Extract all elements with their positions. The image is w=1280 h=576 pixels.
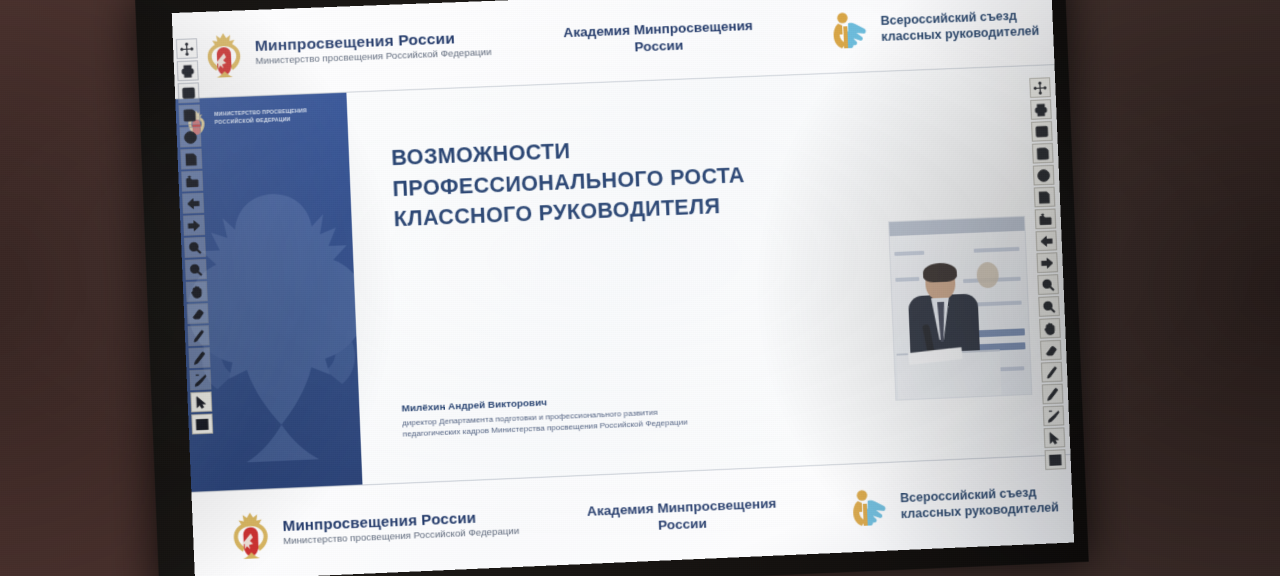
toolbar-button-close-x[interactable] <box>1033 165 1055 186</box>
toolbar-button-arrow-right[interactable] <box>1036 252 1058 273</box>
save-floppy-icon <box>183 108 197 122</box>
save-floppy-icon <box>1036 147 1049 160</box>
pen-thick-icon <box>193 351 207 365</box>
toolbar-button-list-menu[interactable] <box>191 414 213 435</box>
toolbar-button-pen-thick[interactable] <box>189 347 211 368</box>
raised-hands-logo-icon <box>844 484 892 532</box>
toolbar-button-hand-pan[interactable] <box>186 281 208 302</box>
toolbar-button-search-page[interactable] <box>1034 187 1056 208</box>
header-congress-brand: Всероссийский съезд классных руководител… <box>824 0 1040 54</box>
zoom-out-icon <box>189 263 203 277</box>
hand-pan-icon <box>1043 322 1056 335</box>
toolbar-button-pen[interactable] <box>188 325 210 346</box>
toolbar-button-move-crosshair[interactable] <box>1029 77 1051 98</box>
toolbar-button-pen-thick[interactable] <box>1042 384 1064 405</box>
congress-title: Всероссийский съезд классных руководител… <box>880 7 1039 46</box>
save-as-icon <box>1035 125 1048 138</box>
toolbar-button-eraser[interactable] <box>1040 340 1062 361</box>
toolbar-button-highlighter[interactable] <box>1043 405 1065 426</box>
toolbar-button-pen[interactable] <box>1041 362 1063 383</box>
toolbar-button-close-x[interactable] <box>179 127 201 148</box>
slide-title: ВОЗМОЖНОСТИ ПРОФЕССИОНАЛЬНОГО РОСТА КЛАС… <box>391 117 1061 235</box>
raised-hands-logo-icon <box>824 6 872 54</box>
list-menu-icon <box>195 417 209 431</box>
arrow-left-icon <box>1040 234 1053 247</box>
photo-hair <box>923 262 958 282</box>
zoom-in-icon <box>1041 278 1054 291</box>
highlighter-icon <box>1047 409 1060 422</box>
open-folder-icon <box>185 174 199 188</box>
move-crosshair-icon <box>180 42 194 56</box>
toolbar-button-open-folder[interactable] <box>181 171 203 192</box>
toolbar-button-arrow-left[interactable] <box>182 193 204 214</box>
eraser-icon <box>191 307 205 321</box>
search-page-icon <box>1038 190 1051 203</box>
russia-coat-of-arms-icon <box>226 507 274 561</box>
toolbar-button-search-page[interactable] <box>180 149 202 170</box>
toolbar-button-cursor-arrow[interactable] <box>190 391 212 412</box>
zoom-in-icon <box>188 241 202 255</box>
toolbar-button-save-as[interactable] <box>1031 121 1053 142</box>
cursor-arrow-icon <box>1048 431 1061 444</box>
footer-ministry-brand: Минпросвещения России Министерство просв… <box>226 497 520 562</box>
arrow-right-icon <box>1041 256 1054 269</box>
close-x-icon <box>1037 168 1050 181</box>
header-ministry-brand: Минпросвещения России Министерство просв… <box>201 19 493 80</box>
toolbar-button-save-floppy[interactable] <box>179 104 201 125</box>
toolbar-button-print[interactable] <box>177 60 199 81</box>
pen-thick-icon <box>1046 387 1059 400</box>
save-as-icon <box>182 86 196 100</box>
toolbar-button-cursor-arrow[interactable] <box>1044 427 1066 448</box>
zoom-out-icon <box>1042 300 1055 313</box>
print-icon <box>181 64 195 78</box>
toolbar-button-save-floppy[interactable] <box>1032 143 1054 164</box>
toolbar-button-zoom-in[interactable] <box>1037 274 1059 295</box>
list-menu-icon <box>1049 453 1062 466</box>
toolbar-button-move-crosshair[interactable] <box>176 38 198 59</box>
toolbar-button-arrow-right[interactable] <box>183 215 205 236</box>
toolbar-button-eraser[interactable] <box>187 303 209 324</box>
toolbar-button-zoom-out[interactable] <box>1038 296 1060 317</box>
academy-title: Академия Минпросвещения России <box>587 494 778 537</box>
room-photograph: Минпросвещения России Министерство просв… <box>0 0 1280 576</box>
toolbar-button-save-as[interactable] <box>178 82 200 103</box>
pen-icon <box>192 329 206 343</box>
toolbar-button-highlighter[interactable] <box>189 369 211 390</box>
toolbar-button-arrow-left[interactable] <box>1036 230 1058 251</box>
hand-pan-icon <box>190 285 204 299</box>
russia-coat-of-arms-icon <box>201 28 247 80</box>
congress-title: Всероссийский съезд классных руководител… <box>900 483 1059 522</box>
toolbar-button-zoom-in[interactable] <box>184 237 206 258</box>
open-folder-icon <box>1039 212 1052 225</box>
move-crosshair-icon <box>1033 81 1046 94</box>
presentation-slide: Минпросвещения России Министерство просв… <box>172 0 1074 576</box>
print-icon <box>1034 103 1047 116</box>
eraser-icon <box>1044 343 1057 356</box>
toolbar-button-open-folder[interactable] <box>1035 209 1057 230</box>
highlighter-icon <box>194 373 208 387</box>
footer-congress-brand: Всероссийский съезд классных руководител… <box>844 476 1060 531</box>
toolbar-button-zoom-out[interactable] <box>185 259 207 280</box>
toolbar-button-list-menu[interactable] <box>1045 449 1067 470</box>
slide-content: ВОЗМОЖНОСТИ ПРОФЕССИОНАЛЬНОГО РОСТА КЛАС… <box>346 65 1070 484</box>
toolbar-button-print[interactable] <box>1030 99 1052 120</box>
arrow-left-icon <box>186 196 200 210</box>
arrow-right-icon <box>187 219 201 233</box>
interactive-display-screen[interactable]: Минпросвещения России Министерство просв… <box>172 0 1074 576</box>
toolbar-button-hand-pan[interactable] <box>1039 318 1061 339</box>
panel-caption: МИНИСТЕРСТВО ПРОСВЕЩЕНИЯ РОССИЙСКОЙ ФЕДЕ… <box>214 108 307 127</box>
close-x-icon <box>184 130 198 144</box>
search-page-icon <box>185 152 199 166</box>
speaker-block: Милёхин Андрей Викторович директор Депар… <box>401 391 688 441</box>
academy-title: Академия Минпросвещения России <box>563 17 754 59</box>
pen-icon <box>1045 365 1058 378</box>
footer-academy-brand: Академия Минпросвещения России <box>518 491 845 540</box>
header-academy-brand: Академия Минпросвещения России <box>491 14 826 62</box>
speaker-photo <box>888 216 1032 401</box>
cursor-arrow-icon <box>195 395 209 409</box>
slide-body: МИНИСТЕРСТВО ПРОСВЕЩЕНИЯ РОССИЙСКОЙ ФЕДЕ… <box>175 65 1070 492</box>
